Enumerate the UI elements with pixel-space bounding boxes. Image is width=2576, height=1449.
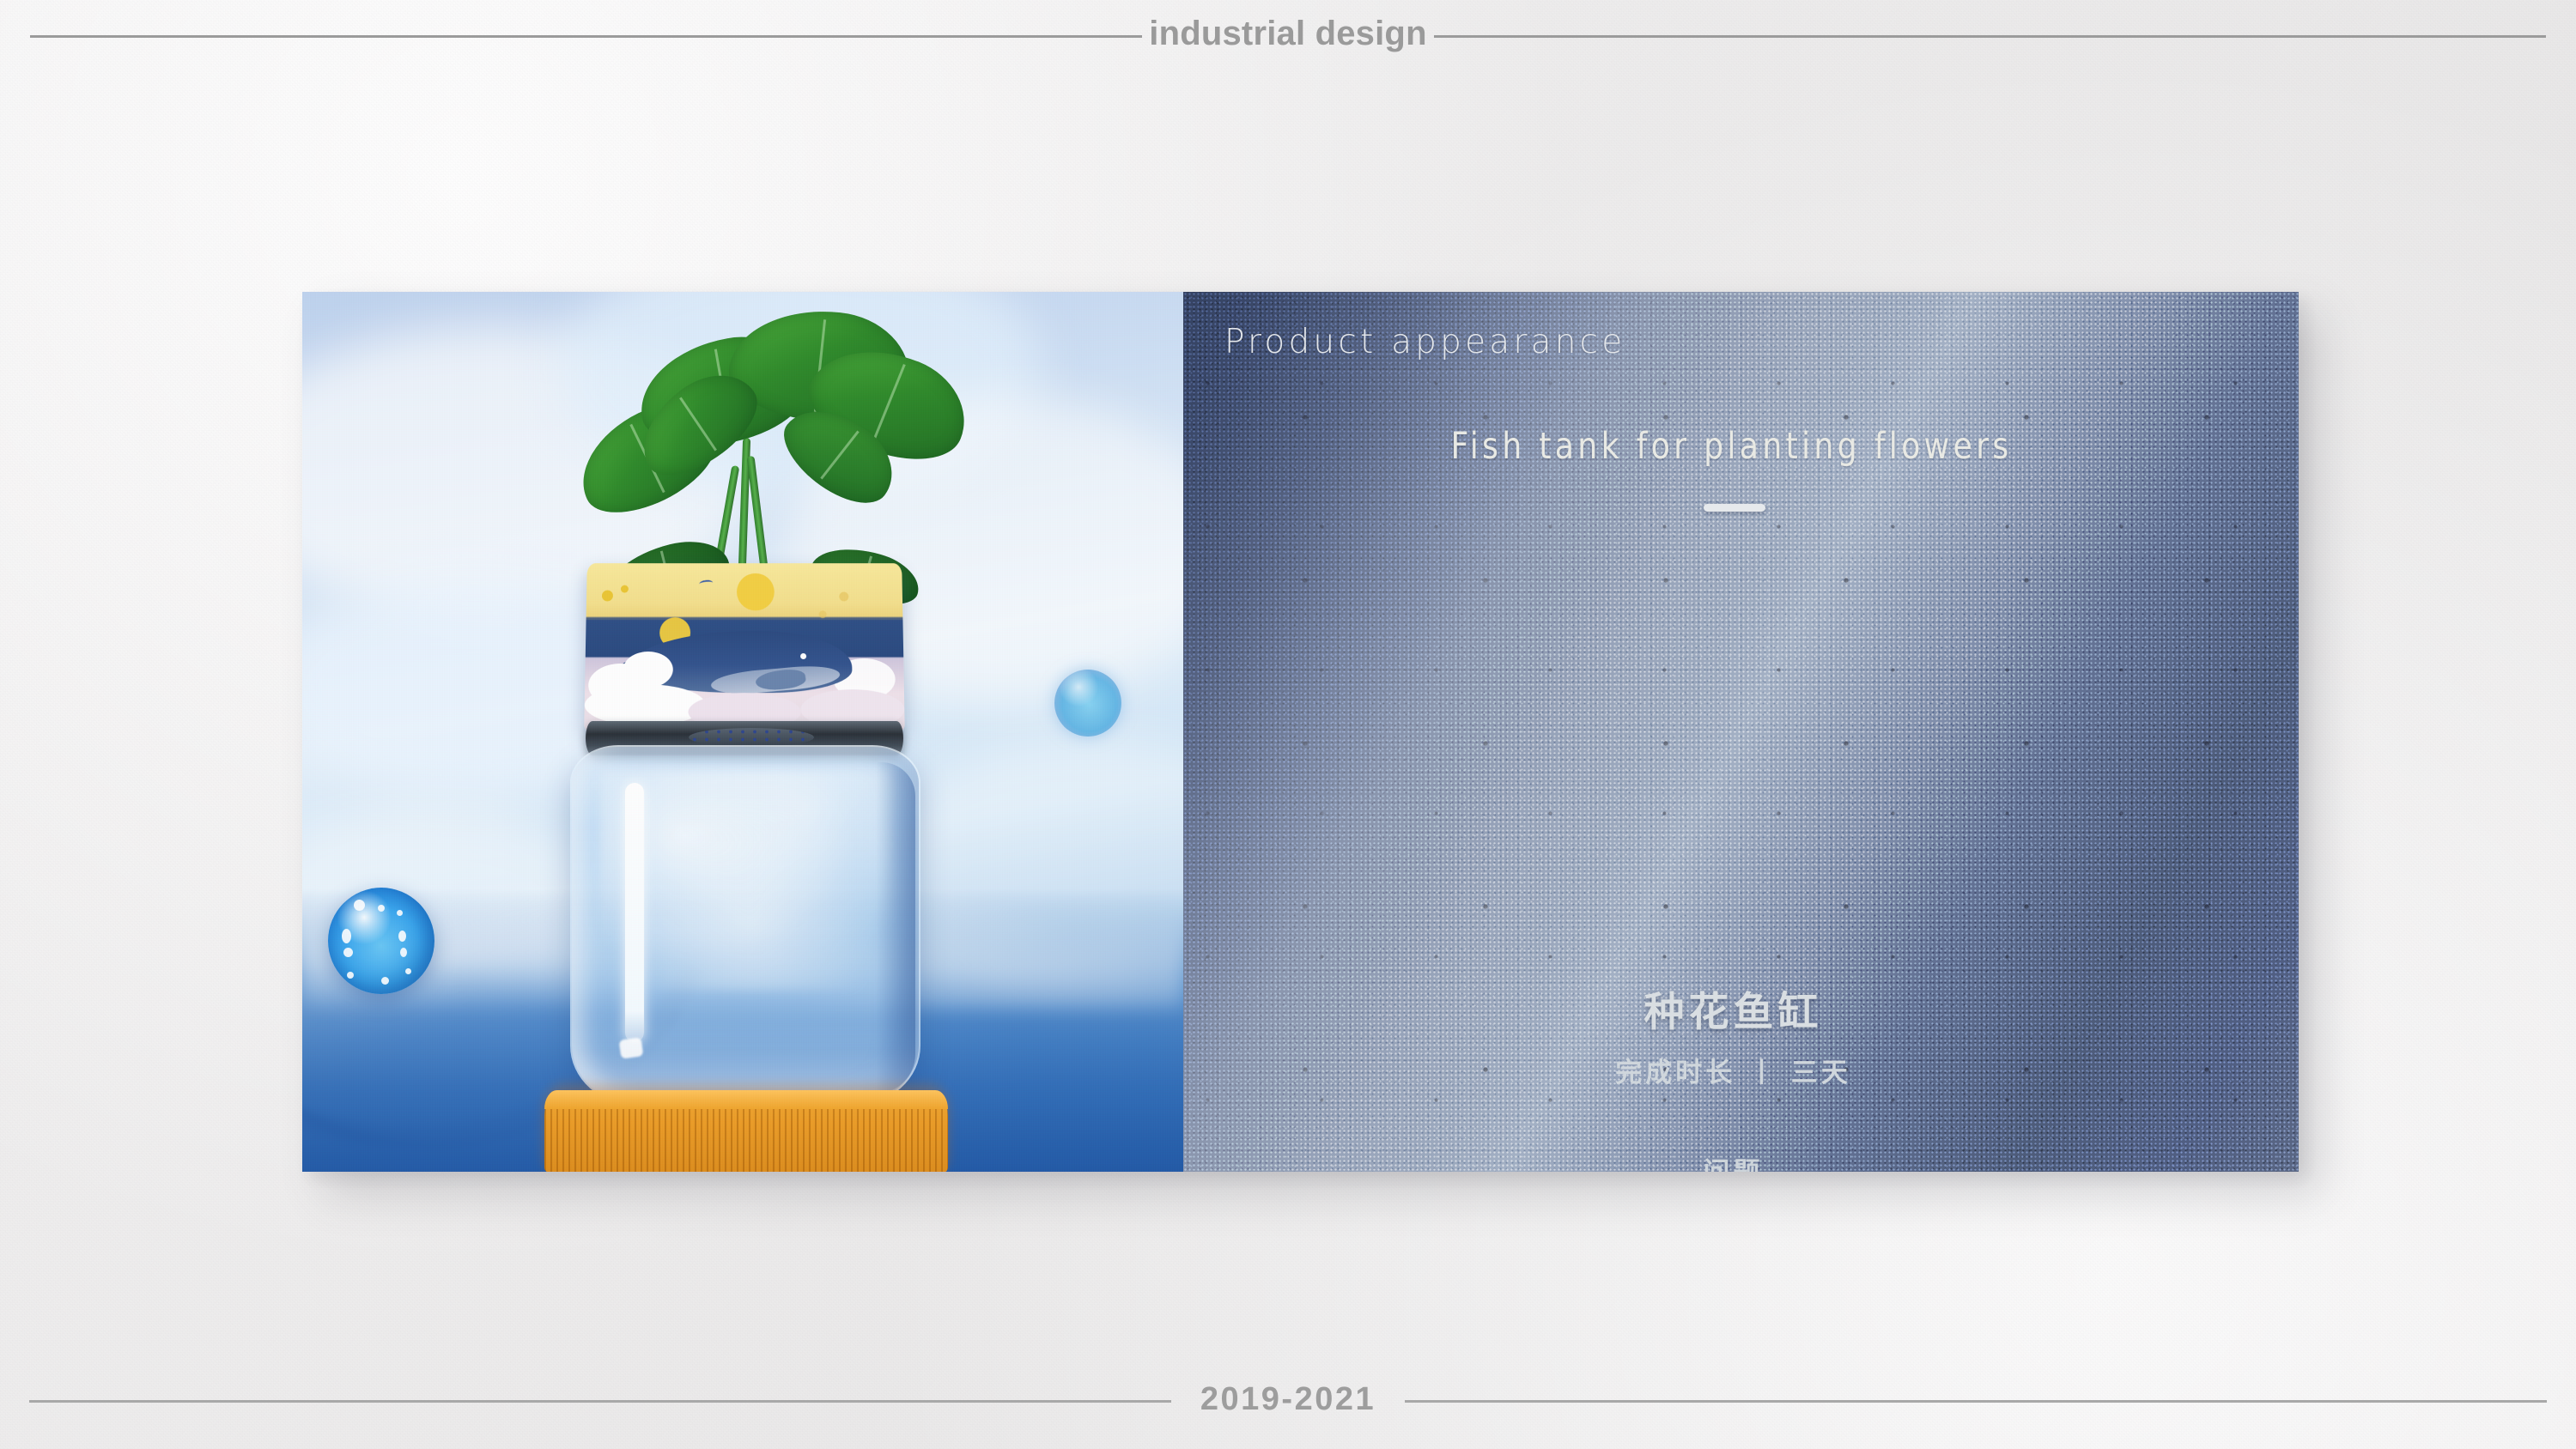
bubble-large [328, 888, 434, 994]
jar-highlight-small [619, 1037, 644, 1058]
jar-highlight [625, 783, 644, 1042]
text-panel: Product appearance Fish tank for plantin… [1183, 292, 2299, 1172]
sun-dot [839, 592, 848, 602]
panel-content: Product appearance Fish tank for plantin… [1183, 292, 2299, 1172]
headline-english: Fish tank for planting flowers [1216, 425, 2246, 468]
bubble-specular [400, 948, 407, 957]
bubble-specular [342, 929, 351, 943]
mesh-grille [689, 728, 814, 747]
header-rule-right [1434, 35, 2546, 38]
duration-chinese-text: 完成时长 丨 三天 [1615, 1058, 1851, 1088]
bubble-specular [397, 910, 403, 916]
wooden-base-top [544, 1090, 948, 1109]
footer-rule-right [1405, 1400, 2547, 1403]
bubble-specular [343, 948, 353, 957]
content-card: Product appearance Fish tank for plantin… [302, 292, 2299, 1172]
pot-cloud [623, 652, 673, 688]
bubble-specular [378, 905, 385, 912]
product-photo [302, 292, 1183, 1172]
sun-dot [737, 573, 775, 610]
bubble-specular [381, 977, 389, 985]
question-label-text: 问题 [1704, 1157, 1764, 1172]
year-range: 2019-2021 [1171, 1381, 1405, 1418]
sun-dot [819, 610, 827, 618]
pot-cloud [584, 684, 706, 726]
sun-dot [621, 585, 629, 593]
wooden-base [544, 1090, 948, 1172]
whale-eye [800, 653, 806, 659]
plant-assembly [302, 292, 1183, 1172]
section-label: Product appearance [1224, 323, 1625, 361]
question-label-chinese: 问题 [1183, 1150, 2283, 1172]
bubble-specular [354, 900, 365, 911]
header-rule-left [30, 35, 1142, 38]
footer-rule-left [29, 1400, 1171, 1403]
bird-icon [699, 579, 714, 587]
pot-sleeve [584, 563, 905, 731]
page-header: industrial design [0, 0, 2576, 72]
page-footer: 2019-2021 [0, 1375, 2576, 1427]
glass-jar [570, 745, 920, 1106]
duration-chinese: 完成时长 丨 三天 [1183, 1051, 2283, 1089]
jar-edge-shadow [876, 762, 915, 1094]
divider-bar [1704, 504, 1765, 512]
title-chinese: 种花鱼缸 [1183, 979, 2283, 1038]
page-title: industrial design [1142, 15, 1433, 53]
bubble-specular [347, 972, 354, 979]
bubble-specular [398, 931, 406, 942]
bubble-specular [405, 968, 411, 974]
title-chinese-text: 种花鱼缸 [1644, 989, 1823, 1036]
